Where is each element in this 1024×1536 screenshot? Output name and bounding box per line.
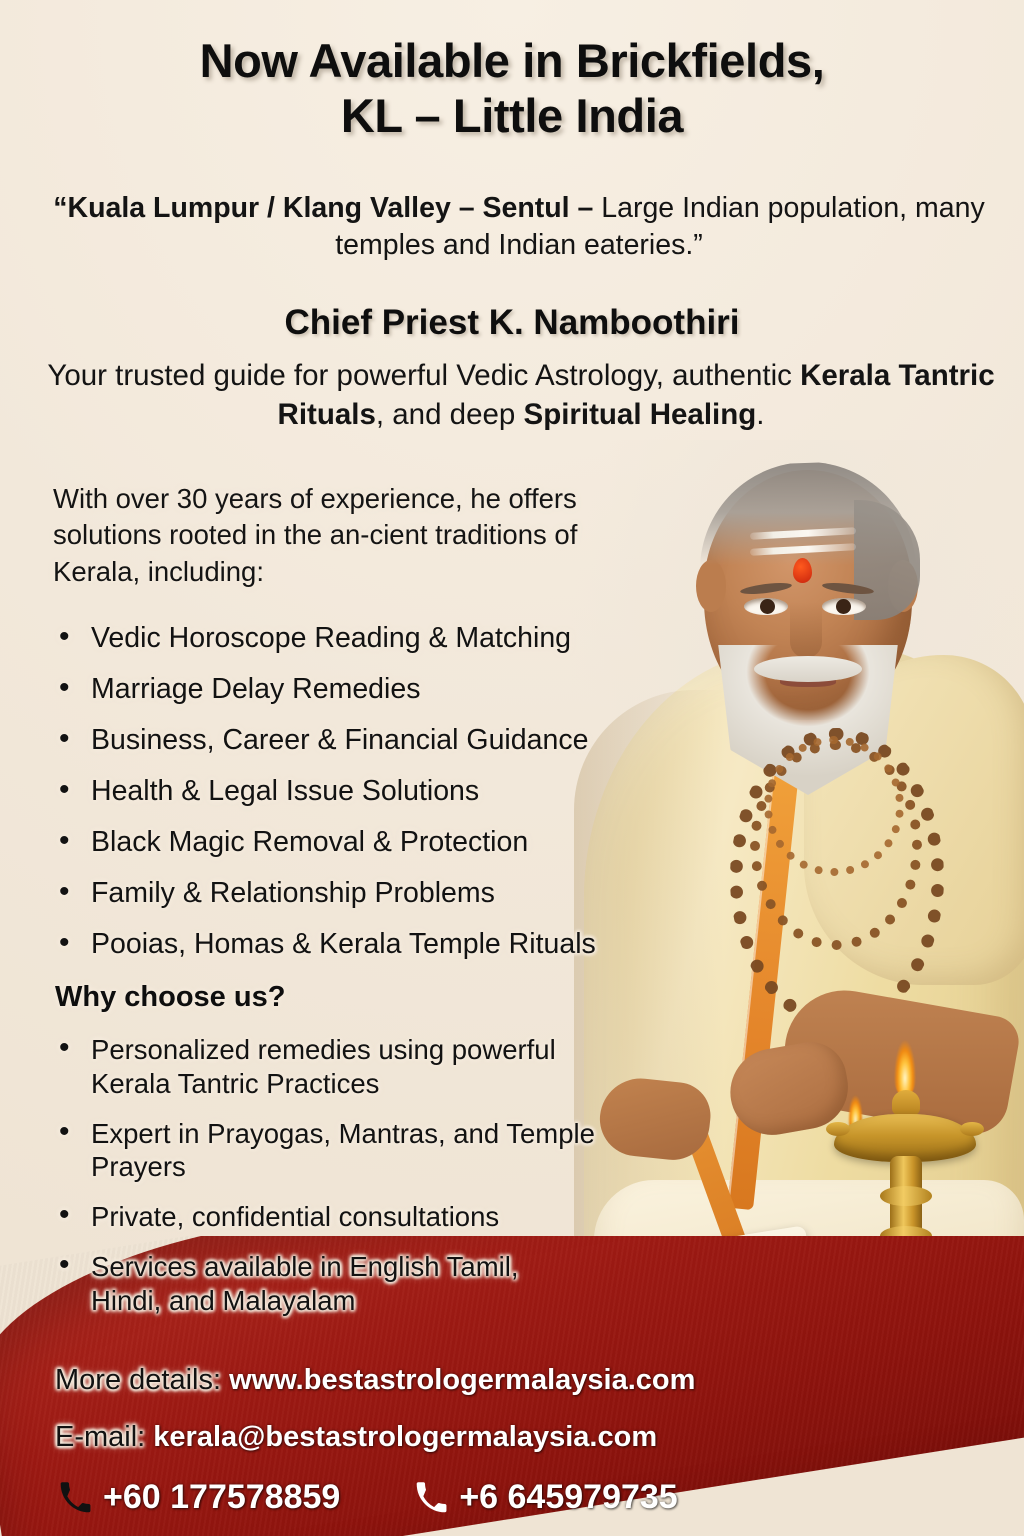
title-line-2: KL – Little India <box>341 89 683 142</box>
website-line: More details: www.bestastrologermalaysia… <box>55 1365 695 1397</box>
list-item: Private, confidential consultations <box>55 1200 595 1234</box>
phone-entry-2[interactable]: +6 645979735 <box>414 1478 677 1517</box>
why-choose-list: Personalized remedies using powerful Ker… <box>55 1033 595 1334</box>
tagline-part-3: . <box>756 398 764 431</box>
list-item: Marriage Delay Remedies <box>55 675 655 704</box>
tagline-part-2: , and deep <box>376 398 524 431</box>
list-item: Services available in English Tamil, Hin… <box>55 1250 595 1318</box>
phone-icon <box>414 1481 448 1515</box>
poster-root: Now Available in Brickfields, KL – Littl… <box>0 0 1024 1536</box>
services-list: Vedic Horoscope Reading & Matching Marri… <box>55 624 655 981</box>
phone-entry-1[interactable]: +60 177578859 <box>58 1478 340 1517</box>
location-quote: “Kuala Lumpur / Klang Valley – Sentul – … <box>44 190 994 264</box>
quote-open-mark: “ <box>53 192 67 224</box>
priest-tagline: Your trusted guide for powerful Vedic As… <box>44 357 998 435</box>
list-item: Family & Relationship Problems <box>55 879 655 908</box>
list-item: Business, Career & Financial Guidance <box>55 726 655 755</box>
phone-number-1[interactable]: +60 177578859 <box>103 1478 340 1517</box>
list-item: Vedic Horoscope Reading & Matching <box>55 624 655 653</box>
tagline-part-1: Your trusted guide for powerful Vedic As… <box>47 359 800 392</box>
list-item: Health & Legal Issue Solutions <box>55 777 655 806</box>
phone-row: +60 177578859 +6 645979735 <box>58 1478 994 1517</box>
why-choose-heading: Why choose us? <box>55 981 285 1014</box>
email-address[interactable]: kerala@bestastrologermalaysia.com <box>153 1421 657 1453</box>
tagline-bold-2: Spiritual Healing <box>524 398 757 431</box>
list-item: Expert in Prayogas, Mantras, and Temple … <box>55 1117 595 1185</box>
quote-bold-part: Kuala Lumpur / Klang Valley – Sentul – <box>68 192 602 224</box>
email-line: E-mail: kerala@bestastrologermalaysia.co… <box>55 1422 657 1454</box>
phone-icon <box>58 1481 92 1515</box>
phone-number-2[interactable]: +6 645979735 <box>459 1478 677 1517</box>
list-item: Personalized remedies using powerful Ker… <box>55 1033 595 1101</box>
intro-paragraph: With over 30 years of experience, he off… <box>53 481 613 590</box>
website-url[interactable]: www.bestastrologermalaysia.com <box>229 1364 695 1396</box>
page-title: Now Available in Brickfields, KL – Littl… <box>0 34 1024 143</box>
priest-name: Chief Priest K. Namboothiri <box>0 303 1024 343</box>
list-item: Black Magic Removal & Protection <box>55 828 655 857</box>
title-line-1: Now Available in Brickfields, <box>200 34 825 87</box>
list-item: Pooias, Homas & Kerala Temple Rituals <box>55 930 655 959</box>
poster-content: Now Available in Brickfields, KL – Littl… <box>0 0 1024 1536</box>
email-label: E-mail: <box>55 1421 145 1453</box>
more-details-label: More details: <box>55 1364 221 1396</box>
